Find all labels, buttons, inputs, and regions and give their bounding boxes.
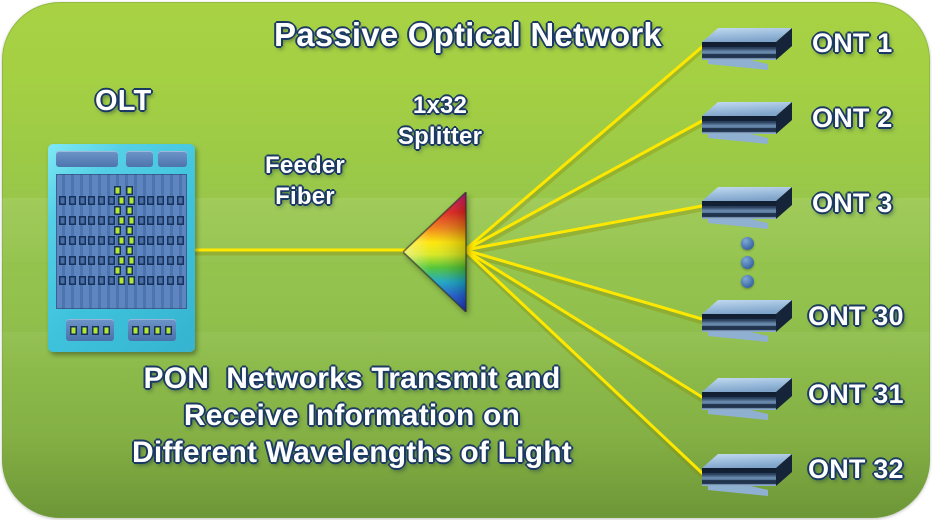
olt-port bbox=[88, 256, 95, 265]
olt-port bbox=[88, 276, 95, 285]
olt-port bbox=[108, 256, 115, 265]
led-indicator bbox=[126, 226, 133, 235]
olt-port bbox=[69, 236, 76, 245]
caption-line-1: PON Networks Transmit and bbox=[144, 362, 561, 395]
led-indicator bbox=[154, 326, 161, 335]
olt-module-bar bbox=[158, 151, 187, 167]
olt-port bbox=[177, 216, 184, 225]
olt-port-row bbox=[59, 256, 184, 265]
olt-port bbox=[147, 196, 154, 205]
led-indicator bbox=[118, 276, 125, 285]
olt-port bbox=[157, 196, 164, 205]
led-indicator bbox=[126, 206, 133, 215]
splitter-label-line2: Splitter bbox=[398, 123, 482, 150]
olt-port bbox=[79, 196, 86, 205]
olt-module-bar bbox=[126, 151, 153, 167]
olt-port bbox=[88, 236, 95, 245]
olt-port-row bbox=[59, 196, 184, 205]
feeder-label-line1: Feeder bbox=[265, 152, 345, 179]
led-indicator bbox=[128, 216, 135, 225]
led-indicator bbox=[118, 256, 125, 265]
ont-device-icon[interactable] bbox=[702, 446, 798, 498]
olt-port bbox=[157, 256, 164, 265]
led-indicator bbox=[70, 326, 77, 335]
olt-port bbox=[98, 196, 105, 205]
olt-port bbox=[147, 216, 154, 225]
feeder-fiber-label: Feeder Fiber bbox=[240, 150, 370, 212]
ont-label-2: ONT 2 bbox=[812, 103, 893, 134]
olt-port bbox=[167, 216, 174, 225]
olt-port bbox=[98, 256, 105, 265]
led-indicator bbox=[114, 226, 121, 235]
led-indicator bbox=[126, 266, 133, 275]
olt-port bbox=[177, 256, 184, 265]
led-indicator bbox=[132, 326, 139, 335]
vertical-ellipsis-dots bbox=[741, 275, 754, 288]
olt-port bbox=[108, 196, 115, 205]
green-panel: Passive Optical Network OLT Feeder Fiber… bbox=[2, 2, 930, 518]
olt-port bbox=[167, 236, 174, 245]
olt-top-modules bbox=[56, 151, 187, 169]
led-indicator bbox=[81, 326, 88, 335]
olt-port bbox=[157, 276, 164, 285]
olt-port bbox=[147, 256, 154, 265]
olt-port bbox=[59, 236, 66, 245]
olt-port bbox=[69, 196, 76, 205]
led-indicator bbox=[128, 196, 135, 205]
olt-module-bar bbox=[56, 151, 118, 167]
led-indicator bbox=[114, 246, 121, 255]
olt-port bbox=[167, 276, 174, 285]
led-indicator bbox=[126, 186, 133, 195]
splitter-label: 1x32 Splitter bbox=[370, 90, 510, 152]
ont-device-icon[interactable] bbox=[702, 179, 798, 231]
olt-port bbox=[177, 196, 184, 205]
ont-label-30: ONT 30 bbox=[808, 301, 904, 332]
olt-port bbox=[69, 216, 76, 225]
olt-port bbox=[98, 236, 105, 245]
led-indicator bbox=[143, 326, 150, 335]
prism-splitter-icon[interactable] bbox=[403, 192, 467, 312]
olt-port bbox=[79, 236, 86, 245]
page-title: Passive Optical Network bbox=[2, 16, 930, 54]
olt-port bbox=[147, 236, 154, 245]
led-indicator bbox=[128, 236, 135, 245]
led-indicator bbox=[128, 276, 135, 285]
splitter-label-line1: 1x32 bbox=[413, 92, 467, 119]
olt-port bbox=[108, 236, 115, 245]
olt-port bbox=[59, 216, 66, 225]
olt-port bbox=[157, 236, 164, 245]
olt-label: OLT bbox=[95, 85, 151, 118]
vertical-ellipsis-dots bbox=[741, 237, 754, 250]
ont-label-31: ONT 31 bbox=[808, 379, 904, 410]
olt-port bbox=[147, 276, 154, 285]
caption-line-3: Different Wavelengths of Light bbox=[132, 436, 572, 469]
led-indicator bbox=[165, 326, 172, 335]
led-indicator bbox=[114, 186, 121, 195]
olt-port bbox=[79, 216, 86, 225]
olt-port-row bbox=[59, 276, 184, 285]
led-indicator bbox=[114, 206, 121, 215]
led-indicator bbox=[114, 266, 121, 275]
olt-port bbox=[167, 256, 174, 265]
ont-label-1: ONT 1 bbox=[812, 28, 893, 59]
ont-device-icon[interactable] bbox=[702, 292, 798, 344]
olt-port bbox=[157, 216, 164, 225]
olt-port bbox=[98, 276, 105, 285]
olt-port bbox=[79, 256, 86, 265]
diagram-caption: PON Networks Transmit and Receive Inform… bbox=[2, 360, 702, 471]
olt-port bbox=[167, 196, 174, 205]
led-indicator bbox=[92, 326, 99, 335]
ont-label-32: ONT 32 bbox=[808, 454, 904, 485]
olt-port bbox=[69, 256, 76, 265]
olt-port bbox=[59, 276, 66, 285]
olt-status-led-panel bbox=[66, 319, 114, 341]
olt-port bbox=[59, 256, 66, 265]
olt-port bbox=[69, 276, 76, 285]
olt-port bbox=[88, 196, 95, 205]
feeder-label-line2: Fiber bbox=[275, 183, 335, 210]
olt-port bbox=[177, 236, 184, 245]
olt-port bbox=[108, 216, 115, 225]
olt-port bbox=[108, 276, 115, 285]
drop-fiber-3 bbox=[465, 206, 702, 250]
olt-port bbox=[138, 236, 145, 245]
led-indicator bbox=[103, 326, 110, 335]
olt-status-led-panel bbox=[128, 319, 176, 341]
olt-port bbox=[138, 216, 145, 225]
led-indicator bbox=[118, 236, 125, 245]
olt-port bbox=[98, 216, 105, 225]
ont-device-icon[interactable] bbox=[702, 370, 798, 422]
ont-device-icon[interactable] bbox=[702, 94, 798, 146]
led-indicator bbox=[128, 256, 135, 265]
olt-port bbox=[79, 276, 86, 285]
diagram-canvas: Passive Optical Network OLT Feeder Fiber… bbox=[0, 0, 932, 520]
olt-port bbox=[138, 276, 145, 285]
olt-port bbox=[138, 256, 145, 265]
olt-port bbox=[59, 196, 66, 205]
led-indicator bbox=[118, 196, 125, 205]
olt-port bbox=[138, 196, 145, 205]
ont-label-3: ONT 3 bbox=[812, 188, 893, 219]
olt-chassis-icon[interactable] bbox=[48, 144, 195, 352]
led-indicator bbox=[118, 216, 125, 225]
led-indicator bbox=[126, 246, 133, 255]
olt-port-row bbox=[59, 236, 184, 245]
olt-port-row bbox=[59, 216, 184, 225]
vertical-ellipsis-dots bbox=[741, 256, 754, 269]
olt-port bbox=[88, 216, 95, 225]
olt-port bbox=[177, 276, 184, 285]
olt-line-card-cage bbox=[56, 174, 187, 309]
caption-line-2: Receive Information on bbox=[184, 399, 520, 432]
